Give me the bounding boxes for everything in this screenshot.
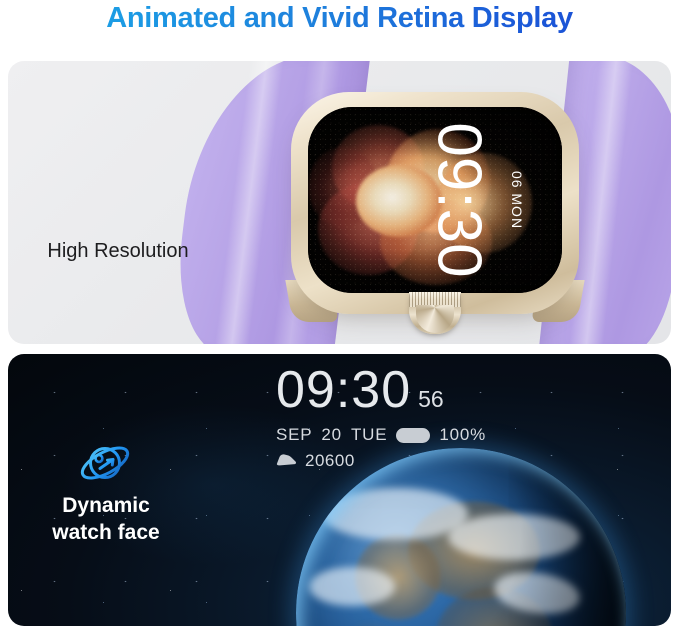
hud-step-count: 20600 [305, 451, 355, 471]
dynamic-watch-face-hud: 09:30 56 SEP 20 TUE 100% 20600 [276, 364, 536, 471]
caption-line-2: watch face [20, 519, 192, 546]
dynamic-watch-face-caption: Dynamic watch face [20, 492, 192, 546]
hud-battery-percent: 100% [439, 425, 486, 445]
product-feature-page: Animated and Vivid Retina Display [0, 0, 679, 637]
hud-time-row: 09:30 56 [276, 364, 536, 416]
page-title: Animated and Vivid Retina Display [0, 0, 679, 36]
planet-orbit-icon [78, 437, 134, 489]
shoe-icon [276, 451, 297, 471]
smartwatch-front-view: 09:30 06 MON [291, 92, 579, 344]
earth-globe-wallpaper [296, 448, 626, 626]
high-resolution-caption: High Resolution [42, 239, 194, 264]
watch-case: 09:30 06 MON [291, 92, 579, 314]
watch-screen: 09:30 06 MON [308, 107, 562, 293]
watch-date-display: 06 MON [509, 171, 525, 229]
crown-face [416, 305, 454, 333]
hud-month: SEP [276, 425, 312, 445]
watch-time-display: 09:30 [427, 122, 489, 277]
hud-time-hhmm: 09:30 [276, 364, 411, 416]
earth-atmosphere-rim [296, 448, 626, 626]
hud-day: 20 [321, 425, 342, 445]
panel-high-resolution: 09:30 06 MON High Resolution [8, 61, 671, 344]
hud-time-seconds: 56 [418, 388, 444, 411]
watch-crown-button[interactable] [409, 292, 461, 334]
battery-full-icon [396, 428, 430, 443]
hud-date-row: SEP 20 TUE 100% [276, 425, 536, 445]
hud-weekday: TUE [351, 425, 387, 445]
hud-steps-row: 20600 [276, 451, 536, 471]
strap-sheen [214, 61, 285, 344]
caption-line-1: Dynamic [20, 492, 192, 519]
